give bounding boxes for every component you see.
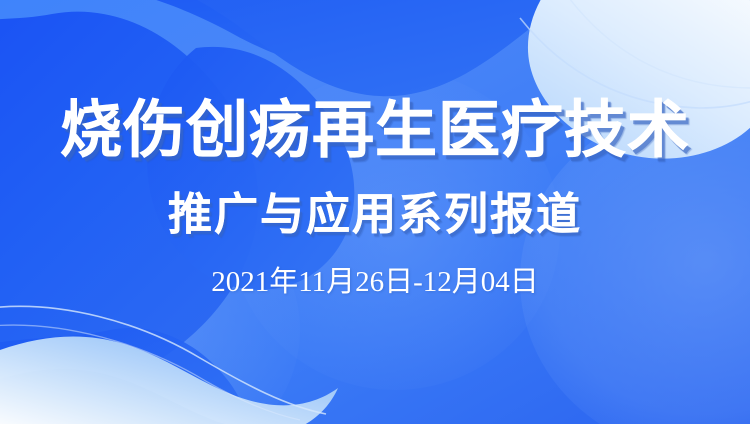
banner-date-range: 2021年11月26日-12月04日 xyxy=(211,268,539,297)
banner-subtitle: 推广与应用系列报道 xyxy=(168,193,582,237)
banner-text-stack: 烧伤创疡再生医疗技术 推广与应用系列报道 2021年11月26日-12月04日 xyxy=(0,0,750,424)
banner-title: 烧伤创疡再生医疗技术 xyxy=(60,100,690,162)
promo-banner: 烧伤创疡再生医疗技术 推广与应用系列报道 2021年11月26日-12月04日 xyxy=(0,0,750,424)
